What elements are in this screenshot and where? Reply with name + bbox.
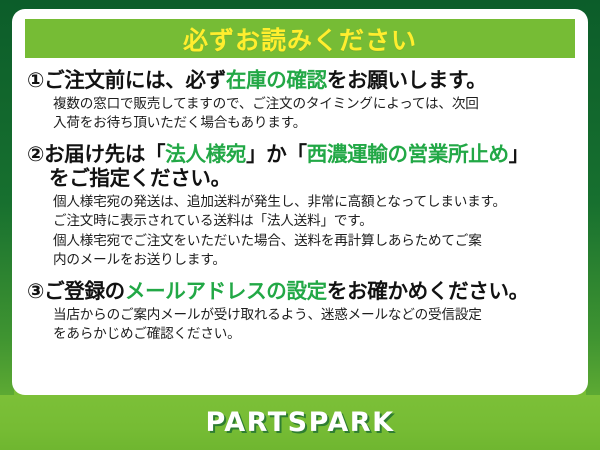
brand-name: PARTSPARK: [205, 407, 394, 438]
notice-item-2-heading-line2: をご指定ください。: [27, 166, 573, 191]
notice-item-2-heading: ②お届け先は「法人様宛」か「西濃運輸の営業所止め」: [27, 143, 573, 167]
notice-poster: 必ずお読みください ①ご注文前には、必ず在庫の確認をお願いします。 複数の窓口で…: [0, 0, 600, 450]
notice-item-1-body: 複数の窓口で販売してますので、ご注文のタイミングによっては、次回 入荷をお待ち頂…: [27, 93, 573, 134]
notice-item-3-body-line-1: 当店からのご案内メールが受け取れるよう、迷惑メールなどの受信設定: [53, 306, 573, 325]
notice-items-list: ①ご注文前には、必ず在庫の確認をお願いします。 複数の窓口で販売してますので、ご…: [25, 69, 575, 344]
notice-item-2-body-line-4: 内のメールをお送りします。: [53, 251, 573, 270]
notice-item-1-heading: ①ご注文前には、必ず在庫の確認をお願いします。: [27, 69, 573, 93]
notice-item-2-marker: ②: [27, 142, 44, 166]
title-bar: 必ずお読みください: [25, 19, 575, 58]
notice-item-1-body-line-1: 複数の窓口で販売してますので、ご注文のタイミングによっては、次回: [53, 95, 573, 114]
notice-item-1-heading-highlight: 在庫の確認: [226, 68, 327, 92]
notice-item-3: ③ご登録のメールアドレスの設定をお確かめください。 当店からのご案内メールが受け…: [27, 280, 573, 345]
notice-item-2-body-line-2: ご注文時に表示されている送料は「法人送料」です。: [53, 212, 573, 231]
notice-item-3-heading-pre: ご登録の: [44, 279, 125, 303]
right-border-rail: [586, 0, 600, 450]
page-title: 必ずお読みください: [183, 21, 417, 57]
notice-item-3-heading-highlight: メールアドレスの設定: [125, 279, 327, 303]
notice-item-2-heading-pre: お届け先は「: [44, 142, 165, 166]
notice-item-2-heading-highlight: 法人様宛: [165, 142, 246, 166]
notice-item-2-body-line-1: 個人様宅宛の発送は、追加送料が発生し、非常に高額となってしまいます。: [53, 193, 573, 212]
notice-item-1: ①ご注文前には、必ず在庫の確認をお願いします。 複数の窓口で販売してますので、ご…: [27, 69, 573, 134]
notice-item-2-body-line-3: 個人様宅宛でご注文をいただいた場合、送料を再計算しあらためてご案: [53, 232, 573, 251]
notice-item-2-heading-mid: 」か「: [246, 142, 307, 166]
notice-item-2-heading-highlight-2: 西濃運輸の営業所止め: [307, 142, 509, 166]
notice-item-3-body: 当店からのご案内メールが受け取れるよう、迷惑メールなどの受信設定 をあらかじめご…: [27, 304, 573, 345]
notice-item-3-body-line-2: をあらかじめご確認ください。: [53, 325, 573, 344]
notice-item-3-heading-post: をお確かめください。: [327, 279, 529, 303]
content-panel: 必ずお読みください ①ご注文前には、必ず在庫の確認をお願いします。 複数の窓口で…: [12, 9, 588, 395]
notice-item-2: ②お届け先は「法人様宛」か「西濃運輸の営業所止め」 をご指定ください。 個人様宅…: [27, 143, 573, 271]
notice-item-2-body: 個人様宅宛の発送は、追加送料が発生し、非常に高額となってしまいます。 ご注文時に…: [27, 191, 573, 271]
notice-item-1-marker: ①: [27, 68, 44, 92]
notice-item-2-heading-post: 」: [509, 142, 529, 166]
notice-item-1-heading-pre: ご注文前には、必ず: [44, 68, 226, 92]
notice-item-1-body-line-2: 入荷をお待ち頂いただく場合もあります。: [53, 114, 573, 133]
footer-brand-bar: PARTSPARK: [0, 395, 600, 450]
notice-item-3-marker: ③: [27, 279, 44, 303]
notice-item-3-heading: ③ご登録のメールアドレスの設定をお確かめください。: [27, 280, 573, 304]
notice-item-1-heading-post: をお願いします。: [327, 68, 487, 92]
